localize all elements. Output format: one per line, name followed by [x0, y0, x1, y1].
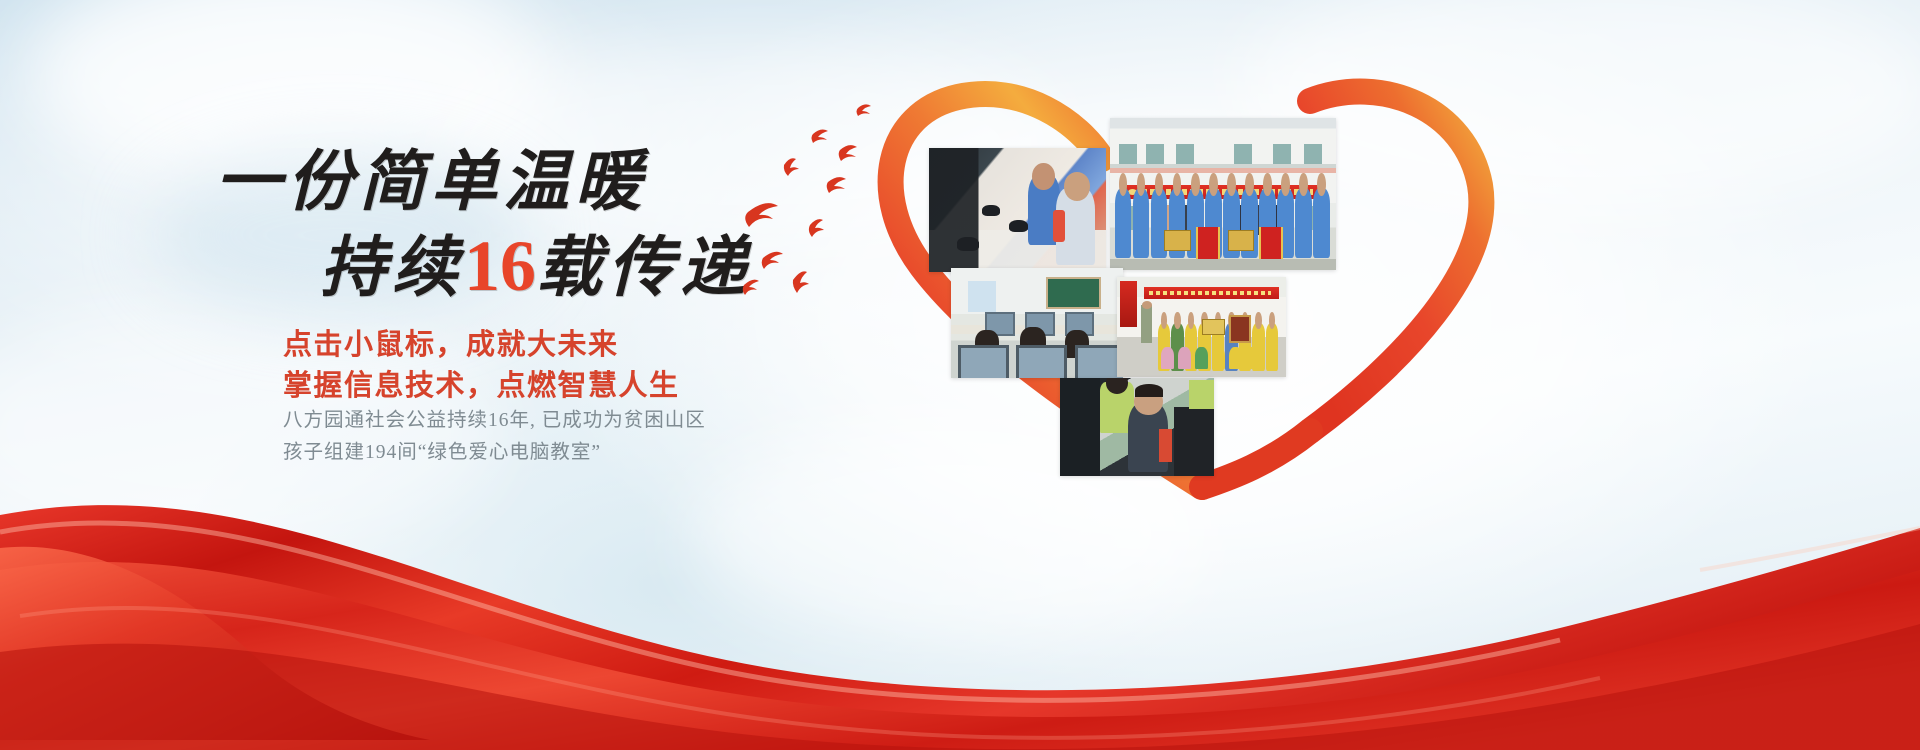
kids-row	[1110, 188, 1336, 258]
subtitle-line-1: 点击小鼠标，成就大未来	[283, 329, 619, 361]
charity-banner: 一份简单温暖 持续16载传递 点击小鼠标，成就大未来 掌握信息技术，点燃智慧人生…	[0, 0, 1920, 750]
headline-line-2-before: 持续	[320, 232, 464, 305]
photo-donation-yellow	[1117, 277, 1286, 377]
subtitle: 点击小鼠标，成就大未来 掌握信息技术，点燃智慧人生	[283, 325, 680, 407]
headline-year-count: 16	[464, 226, 536, 306]
red-silk-wave-icon	[0, 420, 1920, 750]
photo-donation-school	[1110, 118, 1336, 270]
photo-classroom-mice	[929, 148, 1106, 272]
subtitle-line-2: 掌握信息技术，点燃智慧人生	[283, 366, 680, 407]
photo-computer-lab	[951, 268, 1123, 378]
